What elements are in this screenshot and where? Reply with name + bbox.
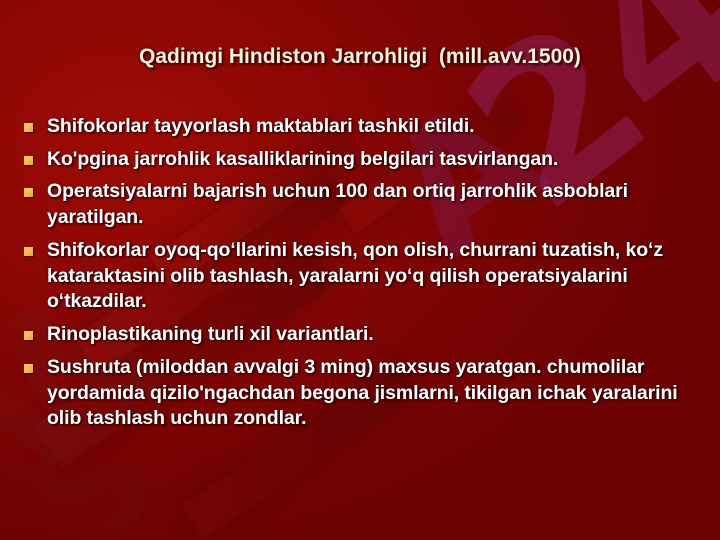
bullet-square-icon — [24, 364, 33, 373]
list-item: Ko'pgina jarrohlik kasalliklarining belg… — [24, 147, 696, 173]
bullet-square-icon — [24, 247, 33, 256]
list-item-text: Ko'pgina jarrohlik kasalliklarining belg… — [47, 147, 696, 173]
list-item-text: Shifokorlar tayyorlash maktablari tashki… — [47, 114, 696, 140]
list-item-text: Rinoplastikaning turli xil variantlari. — [47, 322, 696, 348]
list-item: Sushruta (miloddan avvalgi 3 ming) maxsu… — [24, 355, 696, 432]
list-item: Shifokorlar oyoq-qo‘llarini kesish, qon … — [24, 238, 696, 315]
list-item-text: Operatsiyalarni bajarish uchun 100 dan o… — [47, 179, 696, 230]
bullet-square-icon — [24, 188, 33, 197]
bullet-list: Shifokorlar tayyorlash maktablari tashki… — [24, 114, 696, 439]
list-item: Rinoplastikaning turli xil variantlari. — [24, 322, 696, 348]
presentation-slide: 24 A W S Qadimgi Hindiston Jarrohligi (m… — [0, 0, 720, 540]
list-item: Shifokorlar tayyorlash maktablari tashki… — [24, 114, 696, 140]
bullet-square-icon — [24, 123, 33, 132]
list-item: Operatsiyalarni bajarish uchun 100 dan o… — [24, 179, 696, 230]
bullet-square-icon — [24, 156, 33, 165]
list-item-text: Shifokorlar oyoq-qo‘llarini kesish, qon … — [47, 238, 696, 315]
list-item-text: Sushruta (miloddan avvalgi 3 ming) maxsu… — [47, 355, 696, 432]
bullet-square-icon — [24, 331, 33, 340]
slide-title: Qadimgi Hindiston Jarrohligi (mill.avv.1… — [0, 45, 720, 69]
